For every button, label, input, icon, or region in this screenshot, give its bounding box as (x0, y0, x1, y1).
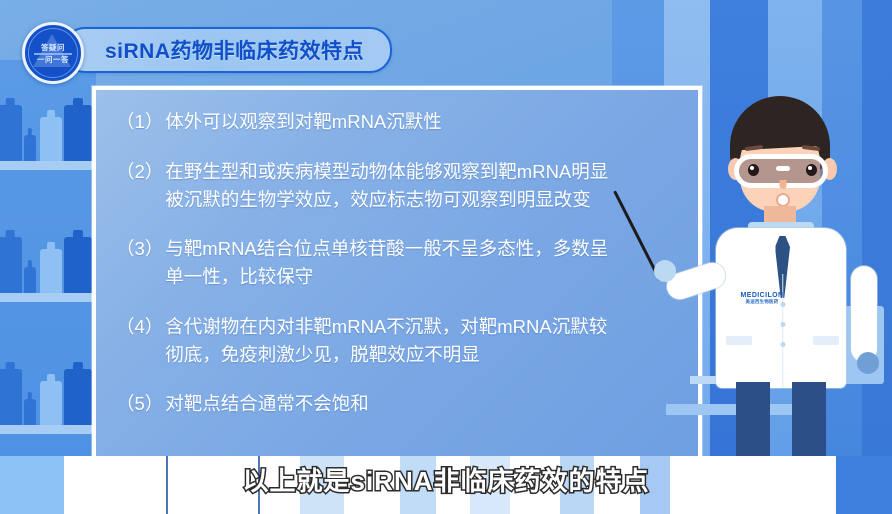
list-item: （4） 含代谢物在内对非靶mRNA不沉默，对靶mRNA沉默较 彻底，免疫刺激少见… (116, 313, 676, 369)
goggle-bridge (776, 166, 790, 171)
list-item-line1: 体外可以观察到对靶mRNA沉默性 (165, 111, 441, 132)
list-item-line1: 对靶点结合通常不会饱和 (165, 393, 369, 414)
page-title: siRNA药物非临床药效特点 (105, 35, 364, 65)
shelf-plank (0, 161, 96, 170)
coat-lapel-right (801, 228, 823, 278)
list-item-number: （2） (116, 158, 165, 214)
list-item-text: 对靶点结合通常不会饱和 (165, 390, 676, 418)
list-item-line1: 在野生型和或疾病模型动物体能够观察到靶mRNA明显 (165, 161, 608, 182)
bottle (24, 267, 36, 293)
whiteboard-content: （1） 体外可以观察到对靶mRNA沉默性 （2） 在野生型和或疾病模型动物体能够… (96, 90, 698, 472)
brand-circle-icon: 答疑问 一问一答 (22, 22, 84, 84)
logo-text-bottom: 一问一答 (25, 54, 81, 65)
coat-button (780, 322, 785, 327)
shelf-plank (0, 293, 96, 302)
coat-brand-en: MEDICILON (734, 292, 790, 299)
coat-button (780, 342, 785, 347)
list-item-text: 在野生型和或疾病模型动物体能够观察到靶mRNA明显 被沉默的生物学效应，效应标志… (165, 158, 676, 214)
bottle (0, 237, 22, 293)
list-item-text: 含代谢物在内对非靶mRNA不沉默，对靶mRNA沉默较 彻底，免疫刺激少见，脱靶效… (165, 313, 676, 369)
list-item: （3） 与靶mRNA结合位点单核苷酸一般不呈多态性，多数呈 单一性，比较保守 (116, 235, 676, 291)
list-item-number: （3） (116, 235, 165, 291)
list-item-number: （4） (116, 313, 165, 369)
coat-brand-cn: 美迪西生物医药 (734, 299, 790, 305)
bottle (24, 135, 36, 161)
list-item-number: （1） (116, 108, 165, 136)
bottle (64, 105, 92, 161)
bottle (24, 399, 36, 425)
content-whiteboard: （1） 体外可以观察到对靶mRNA沉默性 （2） 在野生型和或疾病模型动物体能够… (92, 86, 702, 476)
subtitle-caption: 以上就是siRNA非临床药效的特点 (0, 461, 892, 498)
arm-right (851, 266, 877, 362)
slide-title-pill: siRNA药物非临床药效特点 (63, 27, 392, 73)
list-item-line2: 彻底，免疫刺激少见，脱靶效应不明显 (165, 341, 676, 369)
bottle (40, 249, 62, 293)
list-item-line1: 含代谢物在内对非靶mRNA不沉默，对靶mRNA沉默较 (165, 316, 607, 337)
avatar: MEDICILON 美迪西生物医药 (690, 96, 875, 514)
list-item-line1: 与靶mRNA结合位点单核苷酸一般不呈多态性，多数呈 (165, 238, 608, 259)
list-item-line2: 单一性，比较保守 (165, 263, 676, 291)
slide-canvas: siRNA药物非临床药效特点 答疑问 一问一答 （1） 体外可以观察到对靶mRN… (0, 0, 892, 514)
bottle (40, 117, 62, 161)
coat-pocket-right (813, 336, 839, 345)
hand-right (857, 352, 879, 374)
coat-pocket-left (726, 336, 752, 345)
list-item-text: 体外可以观察到对靶mRNA沉默性 (165, 108, 676, 136)
list-item-line2: 被沉默的生物学效应，效应标志物可观察到明显改变 (165, 186, 676, 214)
bottle (0, 105, 22, 161)
lab-shelf (0, 60, 96, 460)
eye-left (748, 164, 759, 176)
list-item-number: （5） (116, 390, 165, 418)
mouth (776, 193, 790, 207)
list-item-text: 与靶mRNA结合位点单核苷酸一般不呈多态性，多数呈 单一性，比较保守 (165, 235, 676, 291)
bottle (40, 381, 62, 425)
bottle (64, 237, 92, 293)
list-item: （2） 在野生型和或疾病模型动物体能够观察到靶mRNA明显 被沉默的生物学效应，… (116, 158, 676, 214)
logo-text-top: 答疑问 (25, 42, 81, 53)
shelf-row (0, 192, 96, 302)
shelf-plank (0, 425, 96, 434)
bottle (0, 369, 22, 425)
coat-brand-logo: MEDICILON 美迪西生物医药 (734, 292, 790, 305)
eye-right (806, 164, 817, 176)
coat-lapel-left (742, 228, 764, 278)
hand-left (654, 260, 676, 282)
shelf-row (0, 324, 96, 434)
list-item: （1） 体外可以观察到对靶mRNA沉默性 (116, 108, 676, 136)
bottle (64, 369, 92, 425)
nose (779, 180, 786, 189)
list-item: （5） 对靶点结合通常不会饱和 (116, 390, 676, 418)
